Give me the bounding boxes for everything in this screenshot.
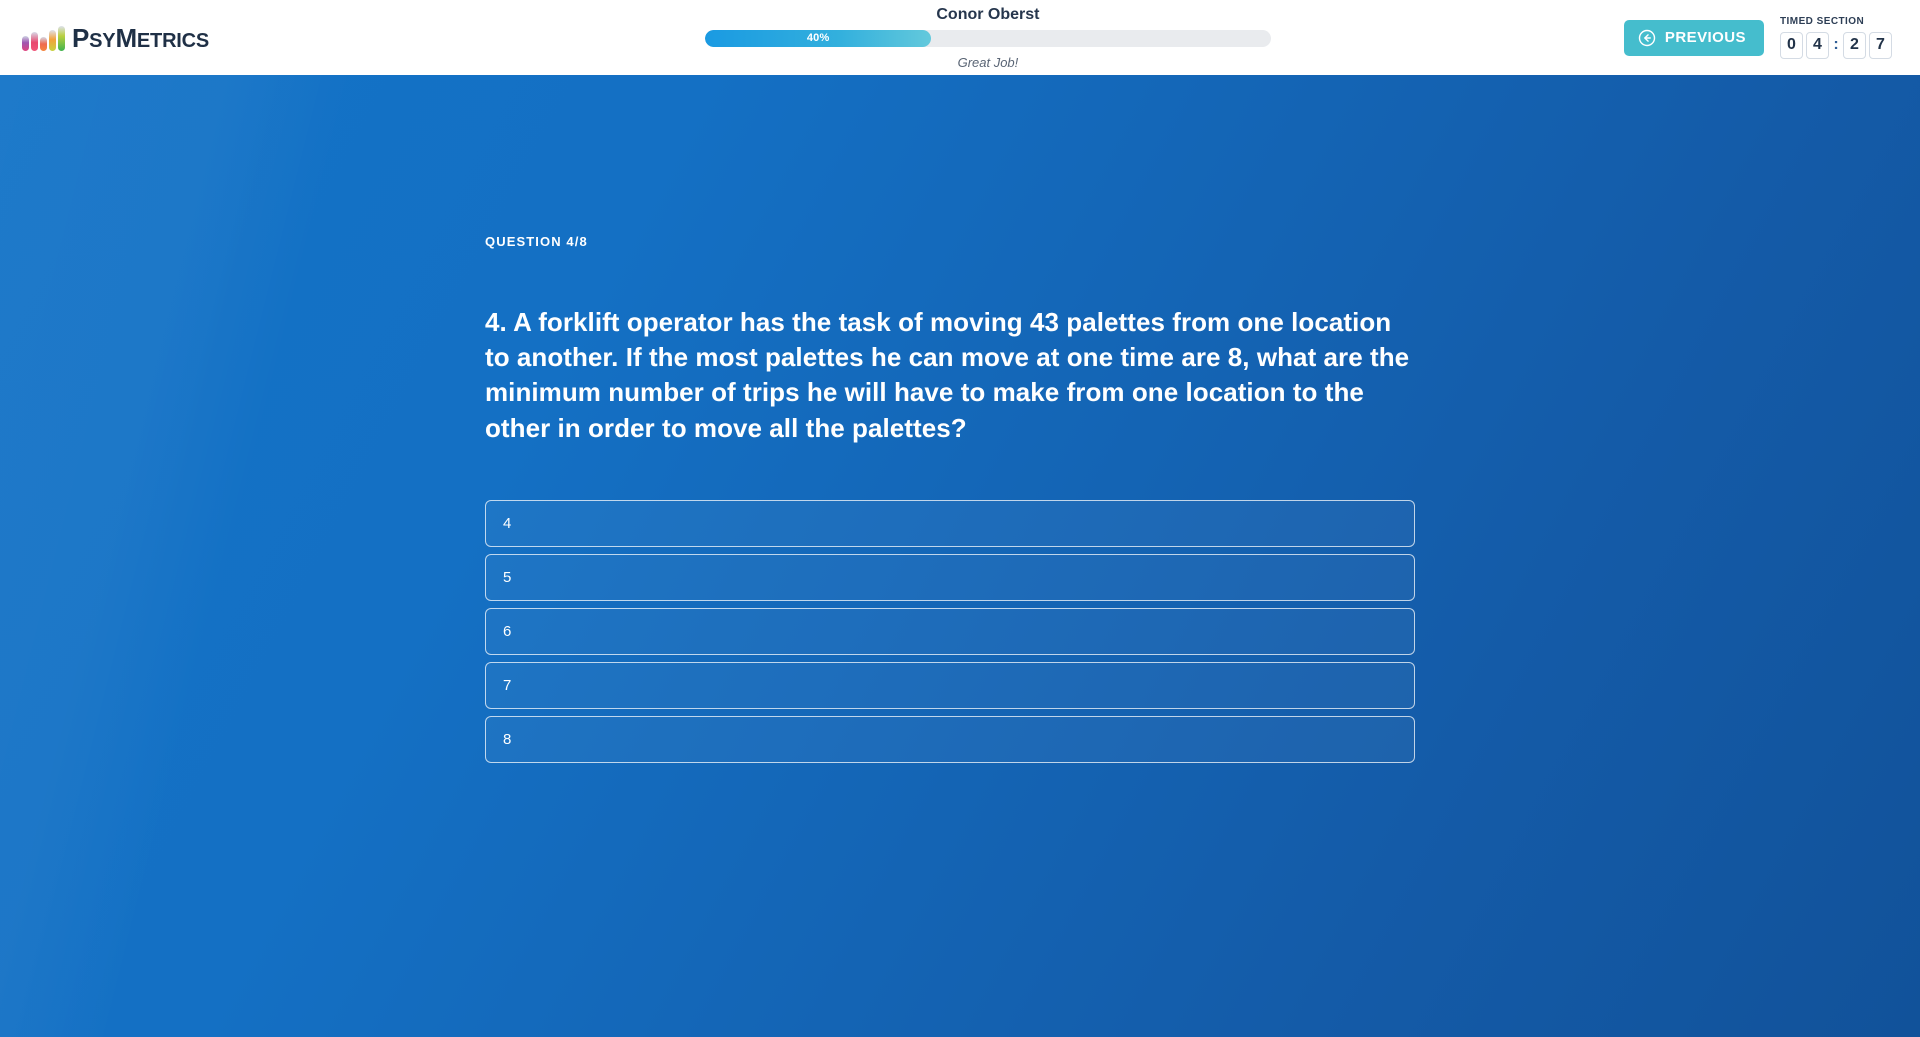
brand-name: PSYMETRICS: [72, 25, 209, 51]
timer-colon: :: [1832, 37, 1840, 53]
encouragement-message: Great Job!: [958, 56, 1019, 69]
timer-digit-seconds-ones: 7: [1869, 32, 1892, 59]
timer-caption: TIMED SECTION: [1780, 17, 1864, 27]
quiz-stage: QUESTION 4/8 4. A forklift operator has …: [0, 75, 1920, 1037]
answer-option-label: 8: [503, 732, 511, 747]
header-controls: PREVIOUS TIMED SECTION 0 4 : 2 7: [1624, 17, 1898, 59]
timer-digits: 0 4 : 2 7: [1780, 32, 1892, 59]
question-counter: QUESTION 4/8: [485, 235, 1415, 248]
timer-widget: TIMED SECTION 0 4 : 2 7: [1780, 17, 1892, 59]
answer-option[interactable]: 8: [485, 716, 1415, 763]
candidate-name: Conor Oberst: [936, 7, 1039, 23]
answer-options: 4 5 6 7 8: [485, 500, 1415, 763]
progress-bar-fill: 40%: [705, 30, 931, 47]
answer-option[interactable]: 7: [485, 662, 1415, 709]
timer-digit-minutes-tens: 0: [1780, 32, 1803, 59]
previous-button-label: PREVIOUS: [1665, 30, 1746, 45]
assessment-page: PSYMETRICS Conor Oberst 40% Great Job! P…: [0, 0, 1920, 1037]
quiz-container: QUESTION 4/8 4. A forklift operator has …: [485, 75, 1415, 1037]
answer-option[interactable]: 4: [485, 500, 1415, 547]
arrow-left-circle-icon: [1638, 29, 1656, 47]
answer-option-label: 4: [503, 516, 511, 531]
timer-digit-seconds-tens: 2: [1843, 32, 1866, 59]
answer-option-label: 7: [503, 678, 511, 693]
progress-section: Conor Oberst 40% Great Job!: [352, 6, 1624, 69]
brand-logo[interactable]: PSYMETRICS: [22, 25, 352, 51]
psymetrics-logo-icon: [22, 25, 65, 51]
app-header: PSYMETRICS Conor Oberst 40% Great Job! P…: [0, 0, 1920, 75]
timer-digit-minutes-ones: 4: [1806, 32, 1829, 59]
answer-option[interactable]: 6: [485, 608, 1415, 655]
answer-option-label: 6: [503, 624, 511, 639]
previous-button[interactable]: PREVIOUS: [1624, 20, 1764, 56]
question-text: 4. A forklift operator has the task of m…: [485, 305, 1415, 446]
progress-bar: 40%: [705, 30, 1271, 47]
progress-percent-label: 40%: [807, 33, 830, 44]
answer-option-label: 5: [503, 570, 511, 585]
answer-option[interactable]: 5: [485, 554, 1415, 601]
